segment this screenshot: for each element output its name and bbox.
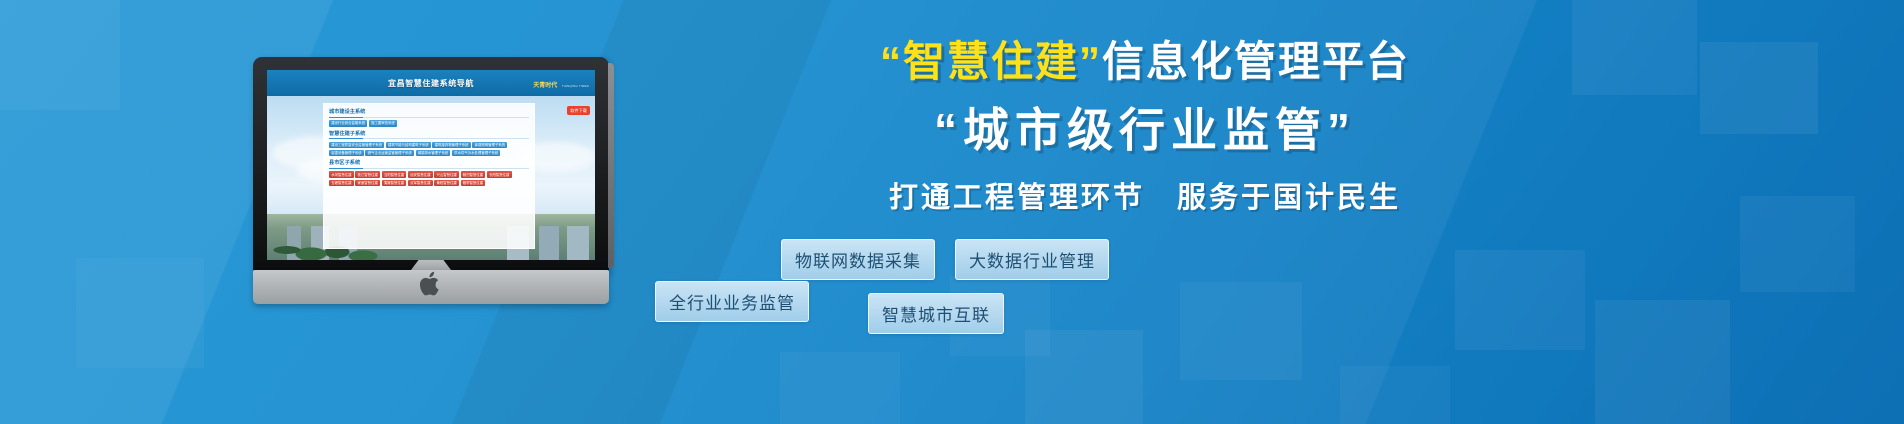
- system-link-button[interactable]: 五峰智慧住建: [329, 180, 354, 187]
- headline-highlight-text: 智慧住建: [903, 38, 1079, 85]
- system-link-button[interactable]: 长阳智慧住建: [487, 171, 512, 178]
- system-link-button[interactable]: 供水供气污水处理管理子系统: [452, 150, 500, 157]
- section-divider: [329, 117, 529, 118]
- section-title: 智慧住建子系统: [329, 130, 529, 139]
- background-square: [780, 352, 900, 424]
- background-square: [1340, 366, 1450, 424]
- background-square: [0, 0, 120, 110]
- system-link-button[interactable]: 建筑废弃物管理子系统: [432, 142, 470, 149]
- monitor-screen: 宜昌智慧住建系统导航 天青时代 TIANQING TIMES 软件下载 城市建设…: [267, 70, 595, 260]
- screen-title: 宜昌智慧住建系统导航: [388, 78, 474, 89]
- screen-section-county-district: 县市区子系统 水河智慧住建 枝江智慧住建 当阳智慧住建 远安智慧住建 兴山智慧住…: [329, 159, 529, 186]
- background-square: [1700, 42, 1818, 134]
- headline-line-3: 打通工程管理环节 服务于国计民生: [640, 174, 1650, 216]
- system-link-button[interactable]: 兴山智慧住建: [434, 171, 459, 178]
- system-link-button[interactable]: 起重设备管理子系统: [329, 150, 364, 157]
- screen-section-smart-housing: 智慧住建子系统 建设工程质量安全监管管理子系统 建筑节能与结构建筑子系统 建筑废…: [329, 130, 529, 157]
- software-download-badge[interactable]: 软件下载: [567, 106, 590, 115]
- monitor-bezel: 宜昌智慧住建系统导航 天青时代 TIANQING TIMES 软件下载 城市建设…: [253, 57, 609, 272]
- background-square: [1595, 300, 1730, 424]
- system-link-button[interactable]: 远安智慧住建: [408, 171, 433, 178]
- system-link-button[interactable]: 城镇排水管理子系统: [416, 150, 451, 157]
- headline-line-1: “智慧住建”信息化管理平台: [640, 40, 1650, 84]
- brand-logo-main: 天青时代: [533, 83, 557, 89]
- system-link-button[interactable]: 点军智慧住建: [408, 180, 433, 187]
- quote-close-mark: ”: [1079, 38, 1102, 85]
- section-title: 县市区子系统: [329, 159, 529, 168]
- tag-iot-data-collection[interactable]: 物联网数据采集: [781, 239, 935, 280]
- system-link-button[interactable]: 水河智慧住建: [329, 171, 354, 178]
- system-link-button[interactable]: 夷陵智慧住建: [382, 180, 407, 187]
- system-link-button[interactable]: 施工图审查系统: [369, 120, 397, 127]
- tag-all-industry-supervision[interactable]: 全行业业务监管: [655, 281, 809, 322]
- system-link-button[interactable]: 燃气企业运营监管管理子系统: [365, 150, 413, 157]
- system-link-button[interactable]: 枝江智慧住建: [355, 171, 380, 178]
- system-link-button[interactable]: 当阳智慧住建: [382, 171, 407, 178]
- system-link-button[interactable]: 建设工程质量安全监管管理子系统: [329, 142, 384, 149]
- background-square: [1740, 196, 1855, 292]
- screen-titlebar: 宜昌智慧住建系统导航 天青时代 TIANQING TIMES: [267, 70, 595, 96]
- screen-navigation-panel: 城市建设主系统 建设行业综合监管系统 施工图审查系统 智慧住建子系统 建设工程质…: [323, 103, 535, 249]
- system-link-button[interactable]: 秭归智慧住建: [461, 171, 486, 178]
- section-button-row: 建设行业综合监管系统 施工图审查系统: [329, 120, 529, 127]
- section-divider: [329, 138, 529, 139]
- background-square: [1455, 250, 1585, 350]
- brand-logo-subtitle: TIANQING TIMES: [562, 84, 589, 88]
- system-link-button[interactable]: 景观照明管理子系统: [472, 142, 507, 149]
- system-link-button[interactable]: 建设行业综合监管系统: [329, 120, 367, 127]
- tag-bigdata-industry-management[interactable]: 大数据行业管理: [955, 239, 1109, 280]
- headline-rest-text: 信息化管理平台: [1102, 38, 1410, 85]
- screen-section-city-main: 城市建设主系统 建设行业综合监管系统 施工图审查系统: [329, 108, 529, 127]
- monitor-stand-base: [253, 270, 609, 304]
- section-button-row: 水河智慧住建 枝江智慧住建 当阳智慧住建 远安智慧住建 兴山智慧住建 秭归智慧住…: [329, 171, 529, 186]
- system-link-button[interactable]: 家亟智慧住建: [355, 180, 380, 187]
- imac-monitor-mockup: 宜昌智慧住建系统导航 天青时代 TIANQING TIMES 软件下载 城市建设…: [253, 57, 609, 304]
- section-title: 城市建设主系统: [329, 108, 529, 117]
- system-link-button[interactable]: 建筑节能与结构建筑子系统: [386, 142, 431, 149]
- section-divider: [329, 168, 529, 169]
- promo-banner: 宜昌智慧住建系统导航 天青时代 TIANQING TIMES 软件下载 城市建设…: [0, 0, 1904, 424]
- apple-logo-icon: [420, 271, 442, 301]
- screen-brand-logo: 天青时代 TIANQING TIMES: [533, 74, 589, 92]
- headline-group: “智慧住建”信息化管理平台 “城市级行业监管” 打通工程管理环节 服务于国计民生: [640, 40, 1650, 216]
- system-link-button[interactable]: 稚亭智慧住建: [461, 180, 486, 187]
- tag-smart-city-interconnect[interactable]: 智慧城市互联: [868, 293, 1004, 334]
- background-square: [76, 258, 204, 368]
- headline-line-2: “城市级行业监管”: [640, 94, 1650, 160]
- background-square: [1180, 282, 1302, 380]
- system-link-button[interactable]: 黄柏智慧住建: [434, 180, 459, 187]
- section-button-row: 建设工程质量安全监管管理子系统 建筑节能与结构建筑子系统 建筑废弃物管理子系统 …: [329, 142, 529, 157]
- quote-open-mark: “: [880, 38, 903, 85]
